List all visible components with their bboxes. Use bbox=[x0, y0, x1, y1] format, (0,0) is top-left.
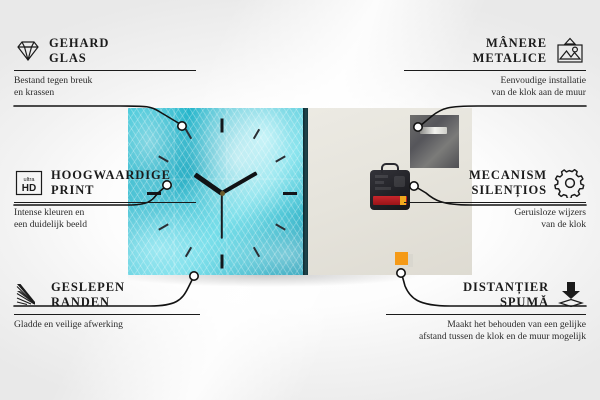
callout-hoogwaardige-print: ultra HD HOOGWAARDIGE PRINT Intense kleu… bbox=[14, 168, 196, 231]
callout-head: GEHARD GLAS bbox=[14, 36, 196, 66]
callout-geslepen-randen: GESLEPEN RANDEN Gladde en veilige afwerk… bbox=[14, 280, 200, 331]
callout-gehard-glas: GEHARD GLAS Bestand tegen breuk en krass… bbox=[14, 36, 196, 99]
callout-rule bbox=[404, 70, 586, 71]
callout-title: DISTANȚIER SPUMĂ bbox=[463, 280, 549, 310]
callout-subtitle: Eenvoudige installatie van de klok aan d… bbox=[404, 75, 586, 99]
connector-marker-distantier-spuma bbox=[397, 269, 405, 277]
callout-subtitle: Bestand tegen breuk en krassen bbox=[14, 75, 196, 99]
callout-head: ultra HD HOOGWAARDIGE PRINT bbox=[14, 168, 196, 198]
connector-line-manere-metalice bbox=[420, 106, 586, 126]
beveled-edges-icon bbox=[14, 282, 44, 308]
foam-spacer-icon bbox=[556, 280, 586, 310]
callout-head: MÂNERE METALICE bbox=[404, 36, 586, 66]
callout-rule bbox=[14, 202, 196, 203]
ultra-hd-icon: ultra HD bbox=[14, 169, 44, 197]
callout-rule bbox=[386, 314, 586, 315]
callout-rule bbox=[14, 314, 200, 315]
callout-manere-metalice: MÂNERE METALICE Eenvoudige installatie v… bbox=[404, 36, 586, 99]
callout-mecanism-silentios: MECANISM SILENȚIOS Geruisloze wijzers va… bbox=[404, 168, 586, 231]
callout-title: MECANISM SILENȚIOS bbox=[469, 168, 547, 198]
callout-head: MECANISM SILENȚIOS bbox=[404, 168, 586, 198]
callout-distantier-spuma: DISTANȚIER SPUMĂ Maakt het behouden van … bbox=[386, 280, 586, 343]
callout-title: GESLEPEN RANDEN bbox=[51, 280, 125, 310]
callout-rule bbox=[14, 70, 196, 71]
gear-icon bbox=[554, 168, 586, 198]
ultra-hd-icon-bottom-text: HD bbox=[22, 183, 36, 194]
connector-marker-gehard-glas bbox=[178, 122, 186, 130]
callout-rule bbox=[404, 202, 586, 203]
callout-title: HOOGWAARDIGE PRINT bbox=[51, 168, 171, 198]
callout-head: DISTANȚIER SPUMĂ bbox=[386, 280, 586, 310]
diamond-icon bbox=[14, 38, 42, 64]
callout-subtitle: Geruisloze wijzers van de klok bbox=[404, 207, 586, 231]
callout-title: MÂNERE METALICE bbox=[473, 36, 547, 66]
connector-marker-manere-metalice bbox=[414, 123, 422, 131]
callout-title: GEHARD GLAS bbox=[49, 36, 109, 66]
callout-head: GESLEPEN RANDEN bbox=[14, 280, 200, 310]
callout-subtitle: Intense kleuren en een duidelijk beeld bbox=[14, 207, 196, 231]
connector-line-gehard-glas bbox=[14, 106, 180, 124]
picture-hanger-icon bbox=[554, 36, 586, 66]
connector-marker-geslepen-randen bbox=[190, 272, 198, 280]
callout-subtitle: Maakt het behouden van een gelijke afsta… bbox=[386, 319, 586, 343]
callout-subtitle: Gladde en veilige afwerking bbox=[14, 319, 200, 331]
